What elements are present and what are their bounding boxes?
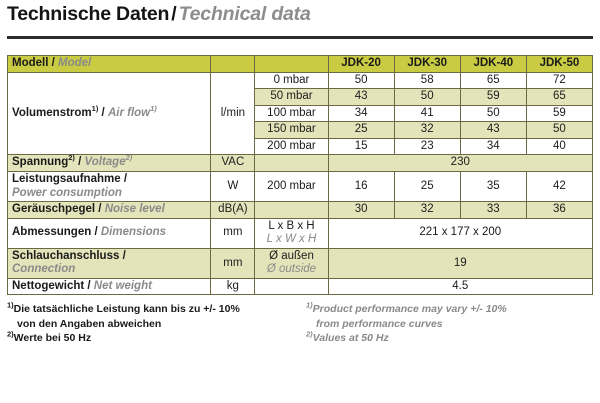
cell-airflow-200mbar-jdk40: 34 [460,138,526,155]
table-header-row: Modell / Model JDK-20 JDK-30 JDK-40 JDK-… [8,56,593,73]
row-label-noise-level-en: Noise level [105,203,165,215]
footnote-en-1-line-2: from performance curves [306,317,593,331]
row-condition-connection-de: Ø außen [259,250,323,264]
footnote-de-1-line-2: von den Angaben abweichen [7,317,294,331]
cell-power-jdk40: 35 [460,171,526,201]
row-label-voltage-en: Voltage [84,156,125,168]
cell-net-weight-all-models: 4.5 [328,278,592,295]
footnote-en-2-mark: 2) [306,330,313,339]
cell-airflow-200mbar-jdk20: 15 [328,138,394,155]
row-label-dimensions: Abmessungen / Dimensions [8,218,211,248]
row-condition-connection: Ø außen Ø outside [255,248,328,278]
cell-airflow-200mbar-jdk50: 40 [526,138,592,155]
row-condition-net-weight [255,278,328,295]
row-condition-dimensions-de: L x B x H [259,220,323,234]
cell-airflow-50mbar-jdk50: 65 [526,89,592,106]
cell-airflow-0mbar-jdk30: 58 [394,72,460,89]
row-label-voltage: Spannung2) / Voltage2) [8,155,211,172]
row-label-power-consumption-de: Leistungsaufnahme [12,173,121,185]
footnote-de-2-text-1: Werte bei 50 Hz [14,332,91,344]
row-label-power-consumption-en: Power consumption [12,187,122,199]
cell-airflow-100mbar-jdk40: 50 [460,105,526,122]
page-title-english: Technical data [179,3,311,25]
cell-airflow-50mbar-jdk20: 43 [328,89,394,106]
condition-200-mbar: 200 mbar [255,138,328,155]
page-title: Technische Daten/Technical data [7,0,593,35]
header-model-jdk20: JDK-20 [328,56,394,73]
row-label-net-weight-en: Net weight [94,280,152,292]
cell-power-jdk20: 16 [328,171,394,201]
row-label-noise-level-de: Geräuschpegel [12,203,95,215]
cell-noise-jdk50: 36 [526,202,592,219]
row-label-connection-de: Schlauchanschluss [12,250,119,262]
cell-airflow-0mbar-jdk40: 65 [460,72,526,89]
cell-airflow-150mbar-jdk30: 32 [394,122,460,139]
header-model-de: Modell [12,57,48,69]
cell-airflow-50mbar-jdk30: 50 [394,89,460,106]
row-label-connection-en: Connection [12,263,75,275]
row-condition-connection-en: Ø outside [259,263,323,277]
row-label-power-consumption: Leistungsaufnahme /Power consumption [8,171,211,201]
row-condition-noise-level [255,202,328,219]
cell-airflow-0mbar-jdk20: 50 [328,72,394,89]
footnotes-english: 1)Product performance may vary +/- 10% f… [294,302,593,345]
footnote-en-1-line-1: 1)Product performance may vary +/- 10% [306,302,593,316]
row-unit-voltage: VAC [211,155,255,172]
footnote-en-2-text-1: Values at 50 Hz [313,332,389,344]
page-title-german: Technische Daten [7,3,169,25]
cell-airflow-100mbar-jdk30: 41 [394,105,460,122]
row-unit-power-consumption: W [211,171,255,201]
row-label-net-weight: Nettogewicht / Net weight [8,278,211,295]
cell-airflow-0mbar-jdk50: 72 [526,72,592,89]
row-label-voltage-en-footnote: 2) [126,154,133,163]
cell-airflow-100mbar-jdk20: 34 [328,105,394,122]
header-model-jdk40: JDK-40 [460,56,526,73]
footnote-de-2-mark: 2) [7,330,14,339]
footnote-de-1-line-1: 1)Die tatsächliche Leistung kann bis zu … [7,302,294,316]
footnotes: 1)Die tatsächliche Leistung kann bis zu … [7,302,593,345]
cell-dimensions-all-models: 221 x 177 x 200 [328,218,592,248]
table-row-noise-level: Geräuschpegel / Noise level dB(A) 30 32 … [8,202,593,219]
table-row-voltage: Spannung2) / Voltage2) VAC 230 [8,155,593,172]
footnote-de-2-line-1: 2)Werte bei 50 Hz [7,331,294,345]
cell-airflow-150mbar-jdk20: 25 [328,122,394,139]
table-row-connection: Schlauchanschluss /Connection mm Ø außen… [8,248,593,278]
cell-power-jdk30: 25 [394,171,460,201]
row-unit-dimensions: mm [211,218,255,248]
cell-voltage-all-models: 230 [328,155,592,172]
footnote-de-1-mark: 1) [7,301,14,310]
row-label-connection: Schlauchanschluss /Connection [8,248,211,278]
row-unit-net-weight: kg [211,278,255,295]
header-model-en: Model [58,57,91,69]
header-condition-spacer [255,56,328,73]
footnote-en-1-text-1: Product performance may vary +/- 10% [313,303,507,315]
row-unit-noise-level: dB(A) [211,202,255,219]
cell-power-jdk50: 42 [526,171,592,201]
condition-100-mbar: 100 mbar [255,105,328,122]
row-condition-voltage [255,155,328,172]
footnote-de-1-text-1: Die tatsächliche Leistung kann bis zu +/… [14,303,240,315]
cell-airflow-150mbar-jdk40: 43 [460,122,526,139]
row-label-net-weight-de: Nettogewicht [12,280,84,292]
row-condition-power-consumption: 200 mbar [255,171,328,201]
table-row-net-weight: Nettogewicht / Net weight kg 4.5 [8,278,593,295]
cell-airflow-50mbar-jdk40: 59 [460,89,526,106]
row-label-airflow-en: Air flow [108,107,150,119]
row-label-airflow: Volumenstrom1) / Air flow1) [8,72,211,155]
table-row-power-consumption: Leistungsaufnahme /Power consumption W 2… [8,171,593,201]
condition-0-mbar: 0 mbar [255,72,328,89]
title-divider [7,36,593,39]
cell-noise-jdk40: 33 [460,202,526,219]
header-model-jdk50: JDK-50 [526,56,592,73]
table-row-dimensions: Abmessungen / Dimensions mm L x B x H L … [8,218,593,248]
row-label-dimensions-de: Abmessungen [12,226,91,238]
cell-airflow-200mbar-jdk30: 23 [394,138,460,155]
header-unit-spacer [211,56,255,73]
footnote-en-1-mark: 1) [306,301,313,310]
cell-airflow-150mbar-jdk50: 50 [526,122,592,139]
row-label-voltage-de: Spannung [12,156,68,168]
cell-noise-jdk20: 30 [328,202,394,219]
footnotes-german: 1)Die tatsächliche Leistung kann bis zu … [7,302,294,345]
row-unit-airflow: l/min [211,72,255,155]
header-model-jdk30: JDK-30 [394,56,460,73]
header-model-label: Modell / Model [8,56,211,73]
cell-connection-all-models: 19 [328,248,592,278]
table-row-airflow-0mbar: Volumenstrom1) / Air flow1) l/min 0 mbar… [8,72,593,89]
cell-noise-jdk30: 32 [394,202,460,219]
row-condition-dimensions-en: L x W x H [259,233,323,247]
row-label-noise-level: Geräuschpegel / Noise level [8,202,211,219]
row-label-airflow-en-footnote: 1) [150,104,157,113]
technical-data-table: Modell / Model JDK-20 JDK-30 JDK-40 JDK-… [7,55,593,295]
page-title-separator: / [169,3,178,25]
footnote-en-2-line-1: 2)Values at 50 Hz [306,331,593,345]
row-label-dimensions-en: Dimensions [101,226,166,238]
condition-150-mbar: 150 mbar [255,122,328,139]
technical-data-page: Technische Daten/Technical data Modell /… [0,0,600,403]
condition-50-mbar: 50 mbar [255,89,328,106]
row-condition-dimensions: L x B x H L x W x H [255,218,328,248]
row-label-voltage-de-footnote: 2) [68,154,75,163]
row-unit-connection: mm [211,248,255,278]
cell-airflow-100mbar-jdk50: 59 [526,105,592,122]
row-label-airflow-de: Volumenstrom [12,107,92,119]
